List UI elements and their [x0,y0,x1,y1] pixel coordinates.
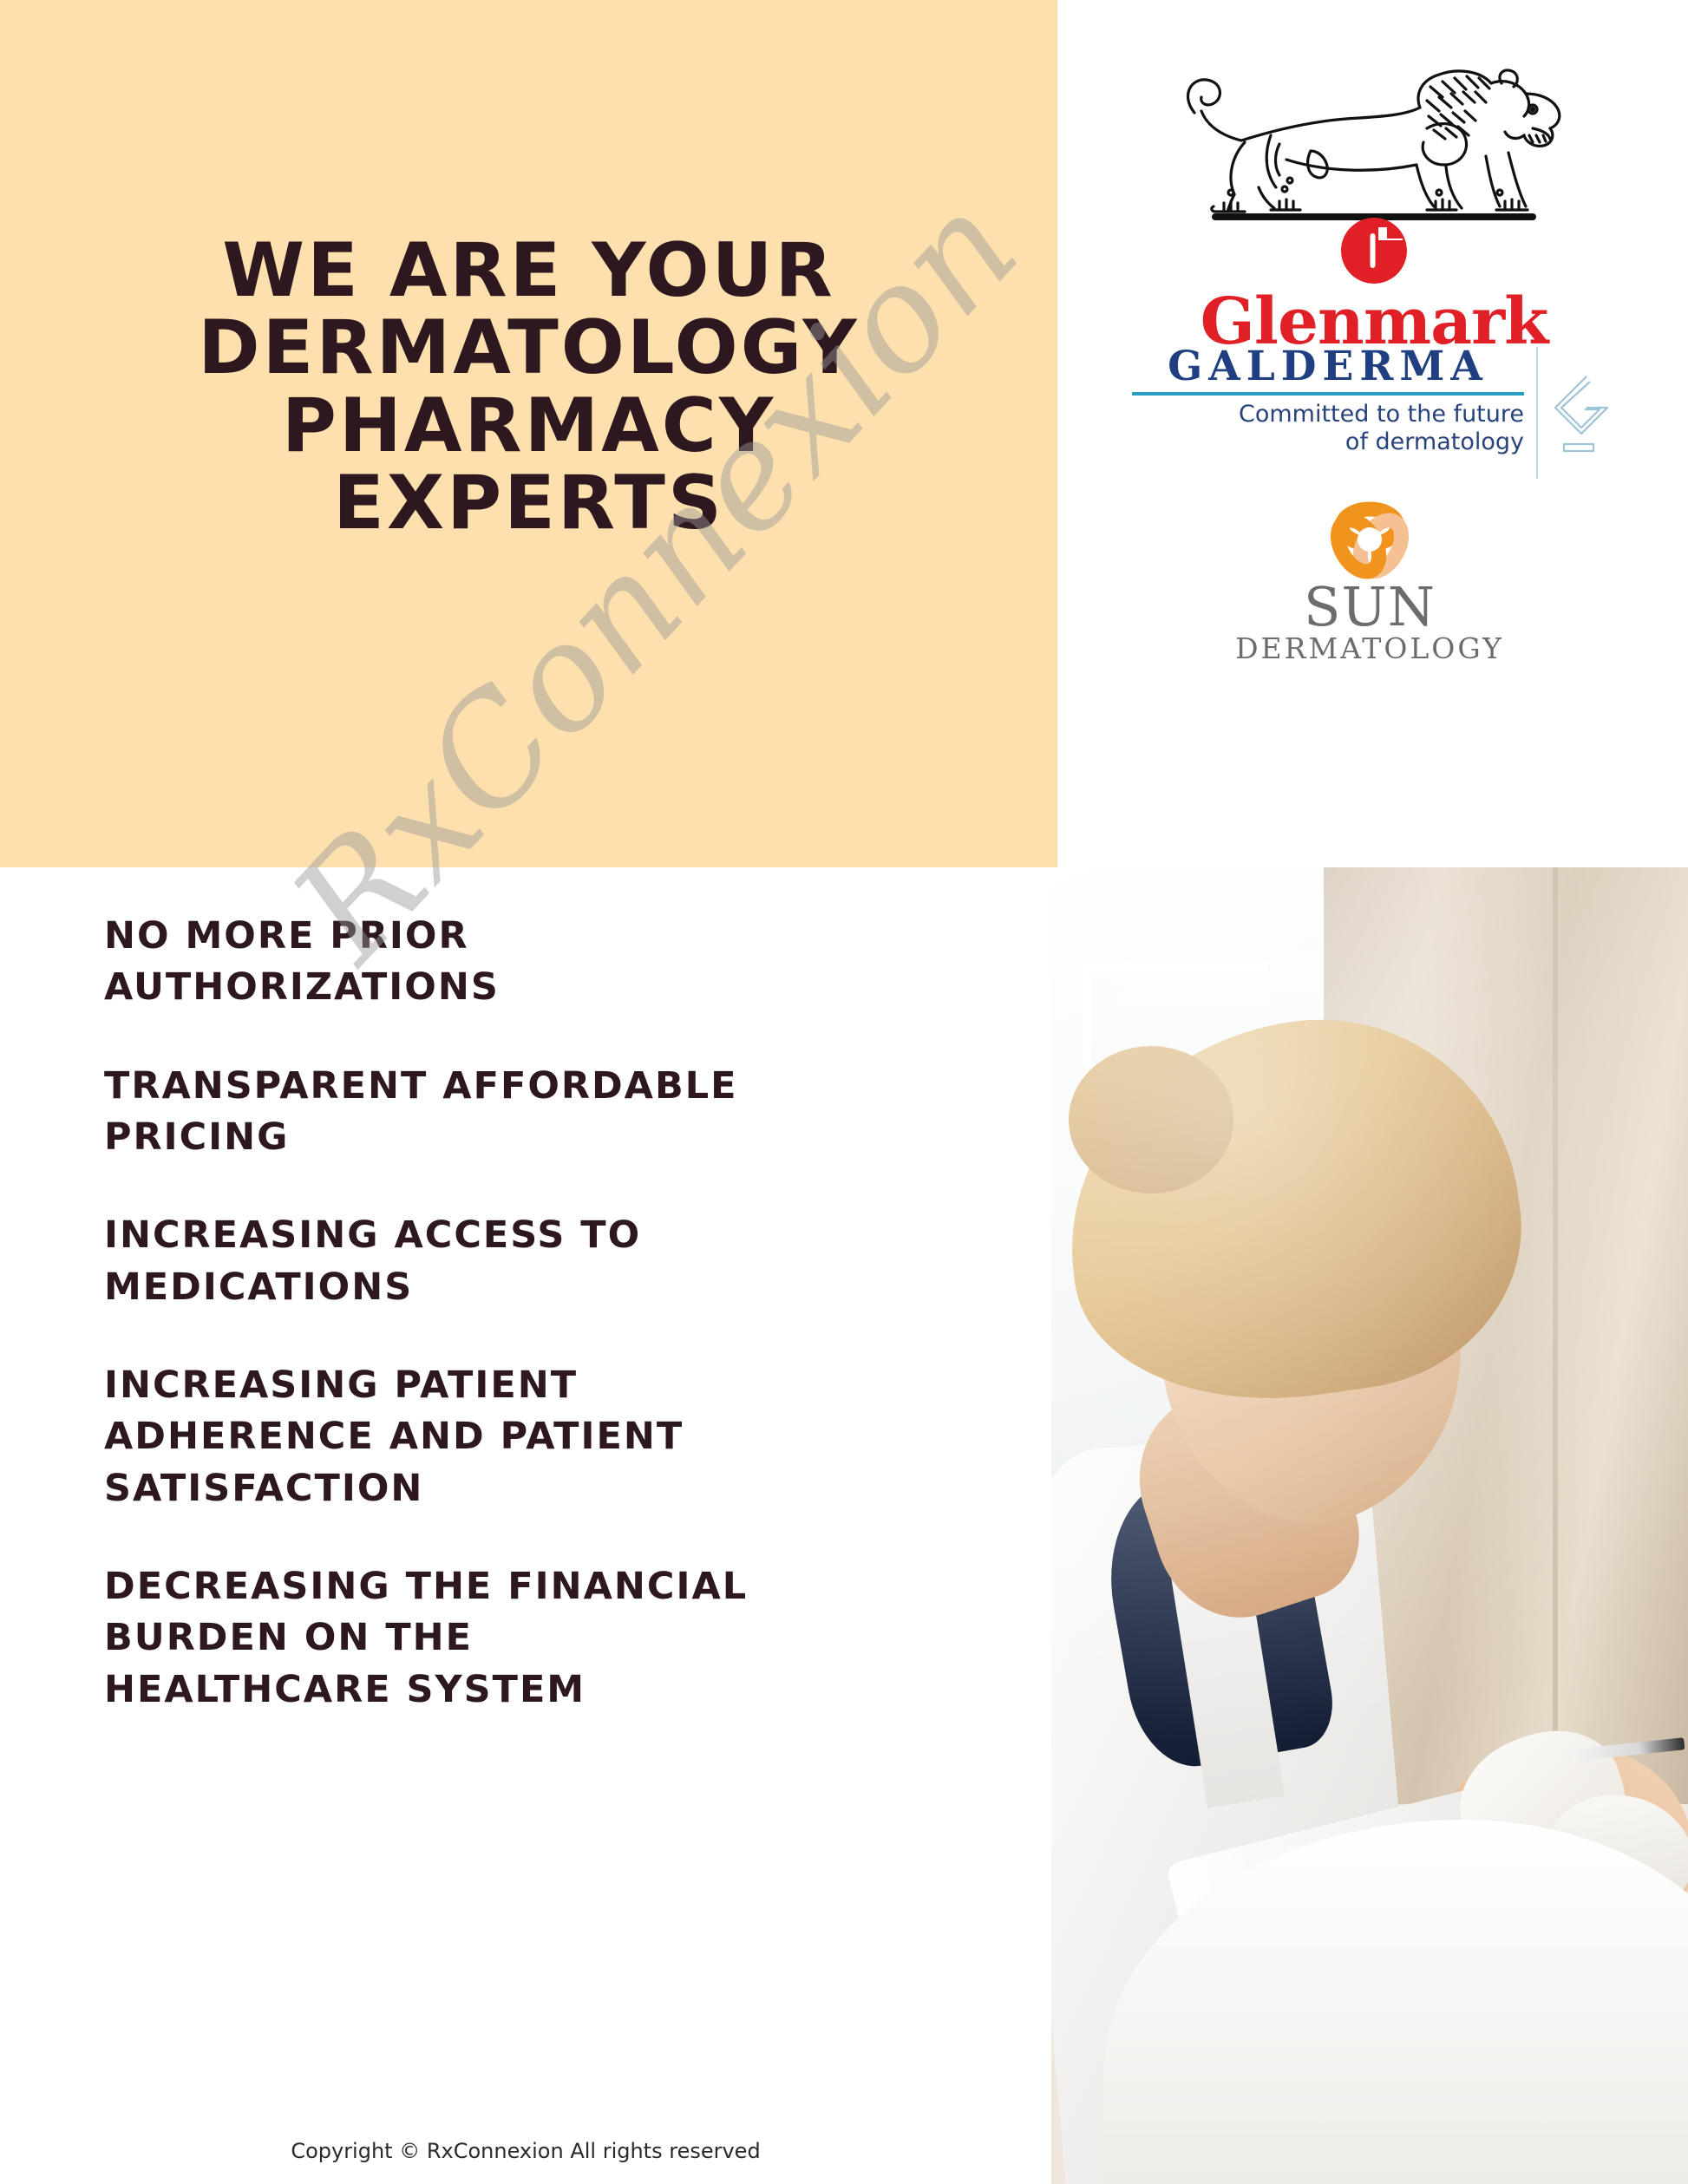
partner-logo-column: Glenmark GALDERMA Committed to the futur… [1057,0,1688,867]
list-item-line: BURDEN ON THE [104,1612,748,1664]
list-item-label: DECREASING THE FINANCIAL BURDEN ON THE H… [104,1561,748,1716]
list-item-line: MEDICATIONS [104,1262,641,1313]
sun-subwordmark: DERMATOLOGY [1214,634,1526,664]
sun-rings-icon [1325,494,1415,585]
list-item-line: ADHERENCE AND PATIENT [104,1411,684,1462]
lion-logo [1141,45,1609,232]
headline-line-1: WE ARE YOUR [0,232,1057,310]
galderma-logo: GALDERMA Committed to the future of derm… [1132,345,1618,484]
list-item-label: NO MORE PRIOR AUTHORIZATIONS [104,911,500,1014]
photo-light-glow [1051,867,1688,2184]
list-item-line: INCREASING ACCESS TO [104,1210,641,1261]
benefits-list: NO MORE PRIOR AUTHORIZATIONS TRANSPARENT… [0,911,1057,1762]
page-title: WE ARE YOUR DERMATOLOGY PHARMACY EXPERTS [0,232,1057,543]
list-item-line: AUTHORIZATIONS [104,962,500,1013]
list-item-label: TRANSPARENT AFFORDABLE PRICING [104,1061,738,1164]
galderma-wordmark: GALDERMA [1132,345,1524,396]
list-item: TRANSPARENT AFFORDABLE PRICING [0,1061,1057,1164]
clinic-photo [1051,867,1688,2184]
sun-wordmark: SUN [1214,581,1526,634]
galderma-g-glyph-icon [1547,368,1614,463]
headline-line-4: EXPERTS [0,465,1057,542]
list-item: INCREASING PATIENT ADHERENCE AND PATIENT… [0,1360,1057,1514]
headline-line-2: DERMATOLOGY [0,310,1057,387]
list-item-line: TRANSPARENT AFFORDABLE [104,1061,738,1112]
galderma-tagline-line-1: Committed to the future [1132,401,1524,428]
copyright-footer: Copyright © RxConnexion All rights reser… [0,2139,1051,2163]
sun-dermatology-logo: SUN DERMATOLOGY [1214,494,1526,664]
list-item-line: HEALTHCARE SYSTEM [104,1664,748,1716]
list-item-line: SATISFACTION [104,1463,684,1514]
galderma-text-block: GALDERMA Committed to the future of derm… [1132,345,1524,456]
list-item-line: DECREASING THE FINANCIAL [104,1561,748,1612]
list-item-line: INCREASING PATIENT [104,1360,684,1411]
list-item: DECREASING THE FINANCIAL BURDEN ON THE H… [0,1561,1057,1716]
glenmark-logo: Glenmark [1153,215,1595,354]
list-item: NO MORE PRIOR AUTHORIZATIONS [0,911,1057,1014]
list-item-line: NO MORE PRIOR [104,911,500,962]
lion-icon [1141,45,1609,232]
list-item-label: INCREASING ACCESS TO MEDICATIONS [104,1210,641,1313]
list-item-label: INCREASING PATIENT ADHERENCE AND PATIENT… [104,1360,684,1514]
galderma-divider [1536,347,1538,479]
headline-line-3: PHARMACY [0,388,1057,465]
glenmark-g-mark-icon [1338,215,1410,286]
list-item: INCREASING ACCESS TO MEDICATIONS [0,1210,1057,1313]
galderma-tagline: Committed to the future of dermatology [1132,396,1524,456]
galderma-tagline-line-2: of dermatology [1132,428,1524,456]
list-item-line: PRICING [104,1112,738,1163]
flyer-page: WE ARE YOUR DERMATOLOGY PHARMACY EXPERTS [0,0,1688,2184]
